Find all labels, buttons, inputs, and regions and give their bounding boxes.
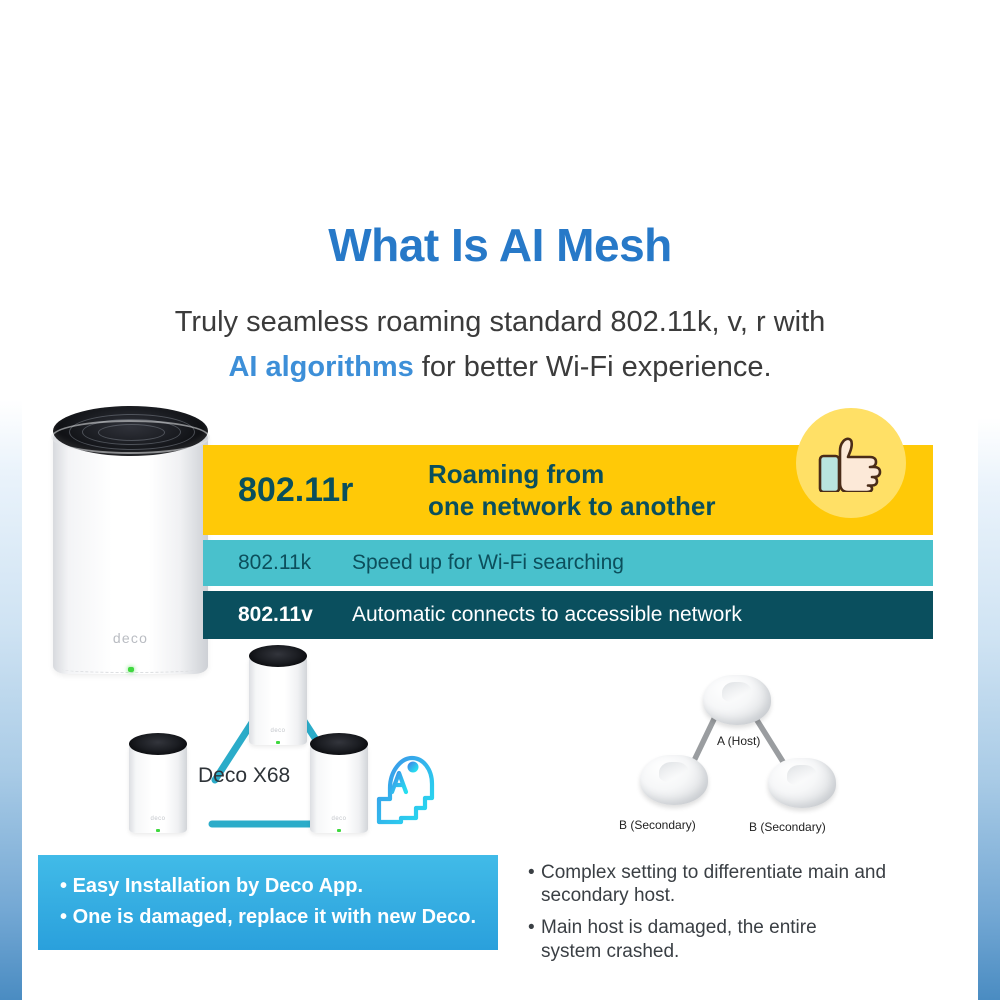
thumbs-up-icon [814,434,890,492]
standard-code-r: 802.11r [238,471,428,510]
tree-node-secondary-right-highlight [787,765,817,786]
tree-node-secondary-left-highlight [659,762,689,783]
ai-head-icon [375,752,437,828]
deco-body: deco [53,430,208,674]
standard-desc-k: Speed up for Wi-Fi searching [352,551,933,575]
tree-node-secondary-right [768,758,836,808]
deco-device-right: deco [310,733,368,833]
deco-small-led-right [337,829,341,832]
tree-node-host-highlight [722,682,752,703]
tree-node-secondary-left [640,755,708,805]
standard-desc-v: Automatic connects to accessible network [352,603,933,627]
deco-small-mesh-right [310,733,368,755]
traditional-drawbacks-list: • Complex setting to differentiate main … [528,861,958,972]
bullet-glyph-3: • [528,861,541,907]
left-edge-gradient [0,400,22,1000]
subtitle-line-1: Truly seamless roaming standard 802.11k,… [0,300,1000,345]
bullet-glyph-4: • [528,916,541,962]
page-subtitle: Truly seamless roaming standard 802.11k,… [0,300,1000,390]
bullet-glyph-1: • [60,875,67,897]
tree-node-secondary-right-shape [768,758,836,808]
tree-label-secondary-right: B (Secondary) [749,820,826,834]
drawback-item-1: • Complex setting to differentiate main … [528,861,958,907]
subtitle-rest: for better Wi-Fi experience. [414,351,772,383]
deco-small-mesh-top [249,645,307,667]
deco-small-body-right: deco [310,744,368,833]
benefit-item-1: • Easy Installation by Deco App. [60,871,476,902]
thumbs-up-badge [796,408,906,518]
deco-small-body-left: deco [129,744,187,833]
benefit-item-2-text: One is damaged, replace it with new Deco… [73,906,476,928]
deco-device-left: deco [129,733,187,833]
subtitle-line-2: AI algorithms for better Wi-Fi experienc… [0,345,1000,390]
tree-node-host [703,675,771,725]
standard-code-v: 802.11v [238,603,352,627]
benefit-item-2: • One is damaged, replace it with new De… [60,902,476,933]
product-name-label: Deco X68 [198,764,290,788]
drawback-item-2: • Main host is damaged, the entire syste… [528,916,958,962]
deco-small-mesh-left [129,733,187,755]
drawback-item-2-text: Main host is damaged, the entire system … [541,916,958,962]
ai-mesh-infographic: What Is AI Mesh Truly seamless roaming s… [0,0,1000,1000]
drawback-item-1-line1: Complex setting to differentiate main an… [541,862,886,883]
tree-node-host-shape [703,675,771,725]
tree-label-secondary-left: B (Secondary) [619,818,696,832]
subtitle-highlight: AI algorithms [228,351,413,383]
deco-small-logo-left: deco [129,816,187,822]
host-tree-diagram: A (Host) B (Secondary) B (Secondary) [600,660,900,850]
deco-benefits-callout: • Easy Installation by Deco App. • One i… [38,855,498,950]
deco-device-large: deco [53,406,208,674]
drawback-item-2-line1: Main host is damaged, the entire [541,917,817,938]
deco-small-led-top [276,741,280,744]
deco-small-led-left [156,829,160,832]
standard-bar-802-11k: 802.11k Speed up for Wi-Fi searching [203,540,933,586]
deco-device-top: deco [249,645,307,745]
standard-bar-802-11v: 802.11v Automatic connects to accessible… [203,591,933,639]
right-edge-gradient [978,418,1000,1000]
benefit-item-1-text: Easy Installation by Deco App. [73,875,363,897]
deco-small-logo-top: deco [249,728,307,734]
deco-small-body-top: deco [249,656,307,745]
deco-rim [51,420,210,454]
drawback-item-1-line2: secondary host. [541,885,675,906]
standard-code-k: 802.11k [238,551,352,575]
tree-label-host: A (Host) [717,734,760,748]
page-title: What Is AI Mesh [0,218,1000,272]
deco-small-logo-right: deco [310,816,368,822]
drawback-item-1-text: Complex setting to differentiate main an… [541,861,958,907]
bullet-glyph-2: • [60,906,67,928]
drawback-item-2-line2: system crashed. [541,941,679,962]
tree-node-secondary-left-shape [640,755,708,805]
